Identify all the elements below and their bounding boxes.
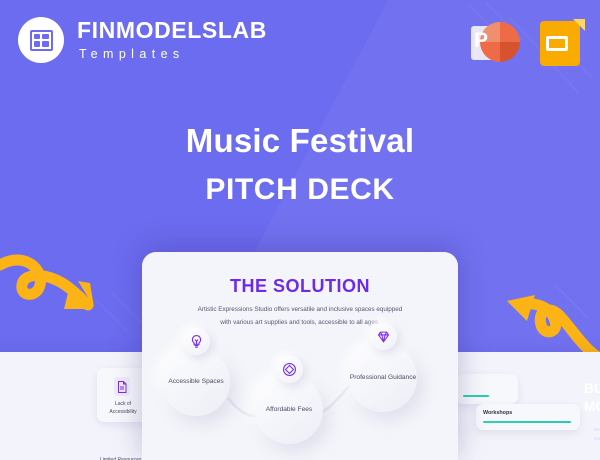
solution-item-label-3: Professional Guidance [350,372,416,384]
business-body: Revenue generation through diverse strea… [594,426,600,444]
solution-circle-3[interactable]: Professional Guidance [349,344,417,412]
hero-subject: Music Festival [0,122,600,160]
business-bar-accent-top [463,395,489,398]
problem-card-label: Lack of Accessibility [101,400,145,416]
brand-text: FINMODELSLAB Templates [77,19,267,61]
slide-canvas: FINMODELSLAB Templates P Music Festival … [0,0,600,460]
gem-icon [370,323,397,350]
solution-circle-1[interactable]: Accessible Spaces [162,348,230,416]
business-bar-card-workshops: Workshops [476,404,580,430]
business-bar-card-top [456,374,518,404]
document-icon [114,377,130,396]
business-bar-label: Workshops [483,410,512,416]
slides-screen-icon [546,36,568,51]
powerpoint-badge[interactable]: P [471,19,519,67]
hero-title-block: Music Festival PITCH DECK [0,122,600,207]
grid-icon [30,30,53,51]
google-slides-badge[interactable] [537,19,585,67]
slides-fold-corner [573,19,585,31]
logo-badge [18,17,64,63]
solution-item-label-2: Affordable Fees [266,404,312,416]
brand-name: FINMODELSLAB [77,19,267,42]
hero-deck-type: PITCH DECK [0,173,600,207]
problem-slide-preview[interactable]: THE PROBLEM Many individuals and communi… [0,352,152,460]
format-badges: P [471,19,585,67]
brand-tagline: Templates [77,48,267,61]
business-slide-preview[interactable]: BUSINESS MODEL Revenue generation throug… [448,352,600,460]
solution-circle-2[interactable]: Affordable Fees [255,376,323,444]
business-title: BUSINESS MODEL [584,380,600,416]
solution-slide-card[interactable]: THE SOLUTION Artistic Expressions Studio… [142,252,458,460]
business-bar-accent [483,421,571,424]
diamond-in-circle-icon [276,356,303,383]
curved-arrow-right-icon [0,243,110,319]
lightbulb-icon [183,328,210,355]
brand-logo[interactable]: FINMODELSLAB Templates [18,17,267,63]
solution-item-label-1: Accessible Spaces [168,376,223,388]
powerpoint-letter: P [474,30,488,51]
